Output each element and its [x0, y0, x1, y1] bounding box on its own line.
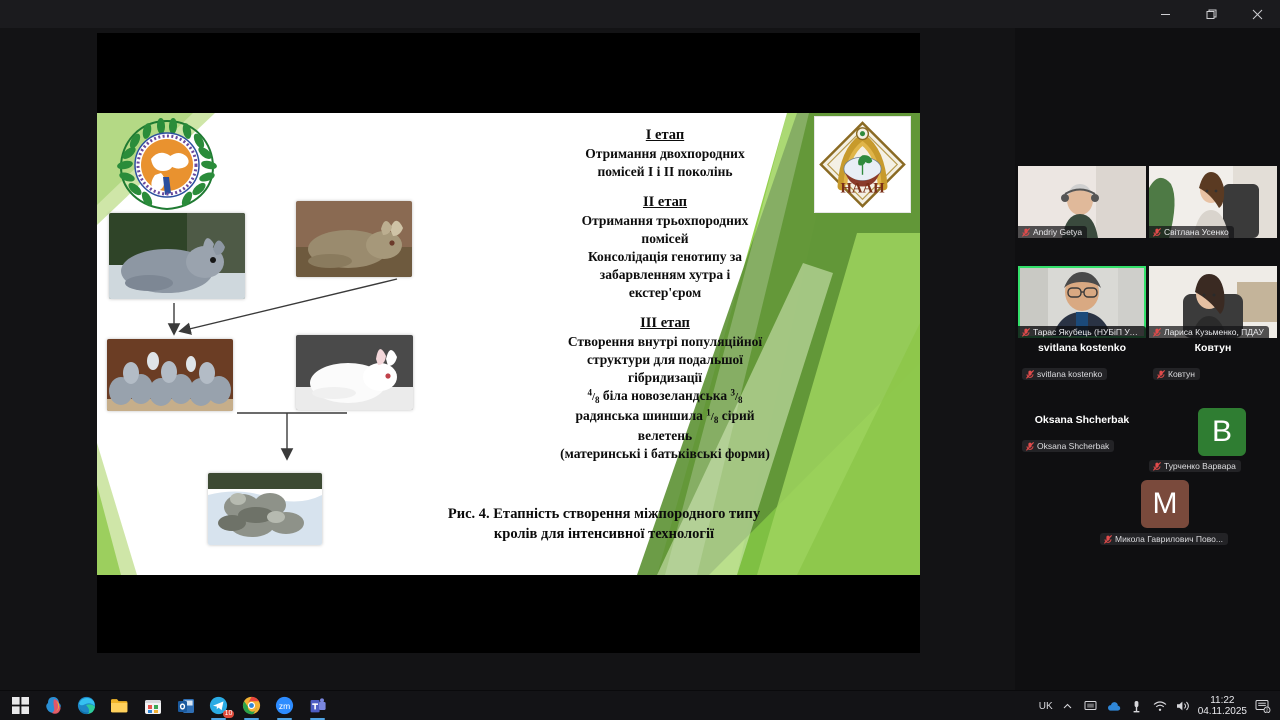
- frac-1-num: 4: [587, 387, 592, 397]
- mic-muted-icon: [1025, 442, 1034, 451]
- participant-tile-svitlana-kostenko[interactable]: svitlana kostenko svitlana kostenko: [1018, 336, 1146, 408]
- chevron-up-icon[interactable]: [1060, 698, 1076, 714]
- restore-icon[interactable]: [1188, 0, 1234, 28]
- stage-3-fraction-line-1: 4/8 біла новозеландська 3/8: [515, 387, 815, 407]
- avatar-initial: В: [1212, 415, 1232, 449]
- video-tile-larysa-kuzmenko[interactable]: Лариса Кузьменко, ПДАУ: [1149, 266, 1277, 338]
- participant-name-chip: Микола Гаврилович Пово...: [1100, 533, 1228, 545]
- start-button[interactable]: [4, 691, 37, 720]
- stage-block-3: III етап Створення внутрі популяційної с…: [515, 315, 815, 463]
- slide-text-column: I етап Отримання двохпородних помісей I …: [515, 127, 815, 476]
- meeting-stage: НААН: [0, 28, 1015, 690]
- mic-muted-icon: [1025, 370, 1034, 379]
- participant-name-chip: Ковтун: [1153, 368, 1200, 380]
- slide-caption-line-1: Рис. 4. Етапність створення міжпородного…: [369, 505, 839, 525]
- stage-2-line-2: помісей: [515, 230, 815, 248]
- volume-icon[interactable]: [1175, 698, 1191, 714]
- onedrive-icon[interactable]: [1106, 698, 1122, 714]
- mic-muted-icon: [1103, 535, 1112, 544]
- notifications-icon[interactable]: 2: [1254, 698, 1272, 714]
- wifi-icon[interactable]: [1152, 698, 1168, 714]
- avatar: В: [1198, 408, 1246, 456]
- keyboard-layout-indicator[interactable]: UK: [1039, 701, 1053, 712]
- stage-2-line-3: Консолідація генотипу за: [515, 248, 815, 266]
- stage-1-line-1: Отримання двохпородних: [515, 145, 815, 163]
- video-tile-andriy-getya[interactable]: Andriy Getya: [1018, 166, 1146, 238]
- stage-3-line-3: гібридизації: [515, 369, 815, 387]
- stage-2-line-4: забарвленням хутра і: [515, 266, 815, 284]
- mic-muted-icon: [1152, 462, 1161, 471]
- zoom-icon-label: zm: [279, 701, 290, 711]
- microsoft-teams-icon[interactable]: [301, 691, 334, 720]
- stage-1-line-2: помісей I і II поколінь: [515, 163, 815, 181]
- participant-tile-kovtun[interactable]: Ковтун Ковтун: [1149, 336, 1277, 408]
- zoom-meeting-window: НААН: [0, 0, 1280, 720]
- stage-1-heading: I етап: [515, 127, 815, 144]
- stage-3-heading: III етап: [515, 315, 815, 332]
- stage-3-line-2: структури для подальшої: [515, 351, 815, 369]
- participant-display-name: Ковтун: [1149, 342, 1277, 354]
- video-tile-taras-yakubets[interactable]: Тарас Якубець (НУБіП України): [1018, 266, 1146, 338]
- minimize-icon[interactable]: [1142, 0, 1188, 28]
- stage-2-heading: II етап: [515, 194, 815, 211]
- microsoft-store-icon[interactable]: [136, 691, 169, 720]
- taskbar-app-icons: 10 zm: [0, 691, 334, 720]
- avatar-initial: М: [1153, 487, 1178, 521]
- stage-2-line-5: екстер'єром: [515, 284, 815, 302]
- stage-3-line-1: Створення внутрі популяційної: [515, 333, 815, 351]
- participant-name-chip: Oksana Shcherbak: [1022, 440, 1114, 452]
- participant-chip-name: Oksana Shcherbak: [1037, 441, 1109, 451]
- taskbar-clock[interactable]: 11:22 04.11.2025: [1198, 695, 1247, 718]
- stage-block-1: I етап Отримання двохпородних помісей I …: [515, 127, 815, 181]
- stage-2-line-1: Отримання трьохпородних: [515, 212, 815, 230]
- windows-taskbar: 10 zm: [0, 690, 1280, 720]
- file-explorer-icon[interactable]: [103, 691, 136, 720]
- close-icon[interactable]: [1234, 0, 1280, 28]
- slide-caption-line-2: кролів для інтенсивної технології: [369, 525, 839, 545]
- clock-date: 04.11.2025: [1198, 706, 1247, 718]
- system-tray: UK: [1039, 691, 1276, 720]
- zoom-icon[interactable]: zm: [268, 691, 301, 720]
- participant-chip-name: Микола Гаврилович Пово...: [1115, 534, 1223, 544]
- participant-name-chip: Турченко Варвара: [1149, 460, 1241, 472]
- shared-screen[interactable]: НААН: [97, 33, 920, 653]
- participant-display-name: Oksana Shcherbak: [1018, 414, 1146, 426]
- stage-block-2: II етап Отримання трьохпородних помісей …: [515, 194, 815, 302]
- slide-caption: Рис. 4. Етапність створення міжпородного…: [369, 505, 839, 544]
- participant-chip-name: Турченко Варвара: [1164, 461, 1236, 471]
- frac-3-num: 1: [706, 407, 711, 417]
- participant-name: Світлана Усенко: [1164, 227, 1229, 237]
- telegram-badge: 10: [223, 710, 234, 718]
- stage-3-fraction-line-2: радянська шиншила 1/8 сірий: [515, 407, 815, 427]
- video-tile-name-bar: Світлана Усенко: [1149, 226, 1234, 238]
- mic-muted-icon: [1152, 228, 1161, 237]
- outlook-icon[interactable]: [169, 691, 202, 720]
- avatar: М: [1141, 480, 1189, 528]
- participant-display-name: svitlana kostenko: [1018, 342, 1146, 354]
- copilot-icon[interactable]: [37, 691, 70, 720]
- google-chrome-icon[interactable]: [235, 691, 268, 720]
- participant-chip-name: svitlana kostenko: [1037, 369, 1102, 379]
- presentation-slide: НААН: [97, 113, 920, 575]
- clock-time: 11:22: [1198, 695, 1247, 707]
- mic-muted-icon: [1021, 228, 1030, 237]
- frac-2-num: 3: [730, 387, 735, 397]
- participants-rail: Andriy Getya Світлана Усенко: [1015, 28, 1280, 690]
- video-tile-name-bar: Andriy Getya: [1018, 226, 1087, 238]
- mic-muted-icon: [1156, 370, 1165, 379]
- participant-tile-turchenko-varvara[interactable]: В Турченко Варвара: [1149, 408, 1277, 480]
- frac-3-tail: сірий: [718, 408, 754, 423]
- microsoft-edge-icon[interactable]: [70, 691, 103, 720]
- usb-icon[interactable]: [1129, 698, 1145, 714]
- participant-name-chip: svitlana kostenko: [1022, 368, 1107, 380]
- participant-chip-name: Ковтун: [1168, 369, 1195, 379]
- stage-3-tail-2: (материнські і батьківські форми): [515, 445, 815, 463]
- telegram-icon[interactable]: 10: [202, 691, 235, 720]
- participant-tile-mykola-havrylovych[interactable]: М Микола Гаврилович Пово...: [1083, 480, 1275, 552]
- participant-name: Andriy Getya: [1033, 227, 1082, 237]
- video-tile-svitlana-usenko[interactable]: Світлана Усенко: [1149, 166, 1277, 238]
- display-icon[interactable]: [1083, 698, 1099, 714]
- participant-tile-oksana-shcherbak[interactable]: Oksana Shcherbak Oksana Shcherbak: [1018, 408, 1146, 480]
- frac-1-mid: біла новозеландська: [600, 388, 731, 403]
- window-titlebar: [0, 0, 1280, 28]
- stage-3-tail-1: велетень: [515, 427, 815, 445]
- frac-2-den: 8: [738, 395, 743, 405]
- frac-3-mid: радянська шиншила: [575, 408, 706, 423]
